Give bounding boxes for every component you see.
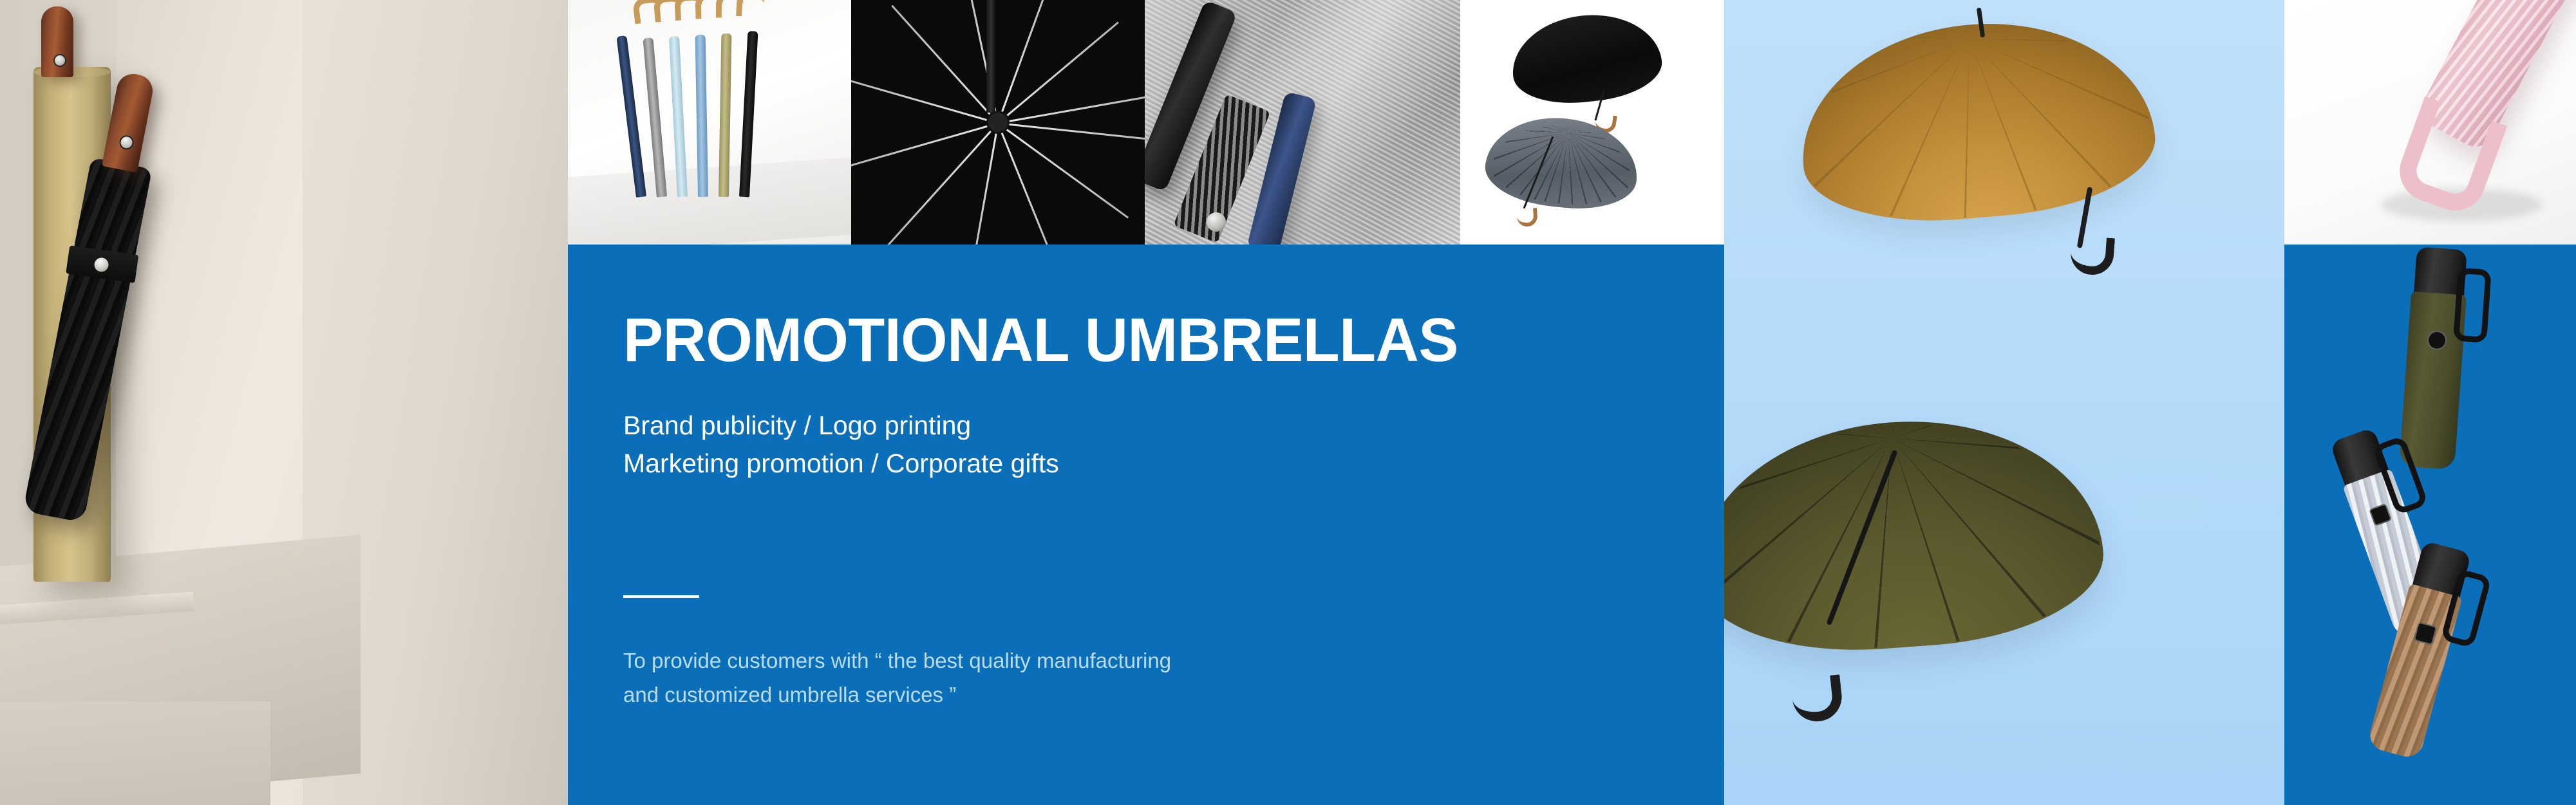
horizontal-divider [623,595,699,598]
light-blue-showcase-panel [1724,0,2284,805]
umbrella-olive [719,33,731,197]
black-open-canopy [1508,8,1666,109]
rib [885,122,999,245]
olive-canopy-ribs [1724,411,2106,660]
auto-open-button-icon [118,134,135,151]
body-line-2: and customized umbrella services ” [623,678,1171,712]
rib [969,123,999,245]
pink-umbrella-panel [2284,0,2576,245]
subtitle-line-2: Marketing promotion / Corporate gifts [623,445,1059,483]
subtitle-block: Brand publicity / Logo printing Marketin… [623,407,1059,483]
folded-umbrellas-blue-panel [2284,245,2576,805]
page-title: PROMOTIONAL UMBRELLAS [623,310,1458,371]
thumbnail-two-open-umbrellas [1460,0,1724,245]
thumbnail-six-umbrellas [568,0,851,245]
wood-hook-handle-icon [1516,208,1538,227]
subtitle-line-1: Brand publicity / Logo printing [623,407,1059,445]
thumb1-umbrella-group [630,13,791,225]
umbrella-grey [643,37,667,197]
body-text-block: To provide customers with “ the best qua… [623,643,1171,712]
umbrella-black [739,31,758,197]
snap-button-icon [1207,212,1226,232]
umbrella-pale-blue [669,36,688,197]
body-line-1: To provide customers with “ the best qua… [623,643,1171,678]
black-umbrella-wood-handle [102,71,156,172]
khaki-umbrella-wood-handle [41,6,73,77]
olive-folded-umbrella [2402,246,2467,475]
auto-open-button-icon [53,54,66,67]
umbrella-blue [695,35,708,197]
thumbnail-umbrella-ribs [851,0,1145,245]
left-lifestyle-photo [0,0,568,805]
crook-handle-icon [736,0,765,17]
tan-umbrella-hook-handle-icon [2069,236,2115,277]
rib [997,0,1055,124]
floor-lower-surface [0,701,270,805]
tan-canopy-seams [1795,12,2158,231]
rib [998,94,1145,124]
blue-text-panel: PROMOTIONAL UMBRELLAS Brand publicity / … [568,245,1724,805]
rib [891,5,999,124]
rib [997,123,1060,245]
wrist-strap-loop [2453,268,2492,343]
promotional-umbrellas-banner: PROMOTIONAL UMBRELLAS Brand publicity / … [0,0,2576,805]
center-shaft [986,0,995,113]
rib-hub [988,113,1008,132]
thumbnail-folded-on-fabric [1145,0,1460,245]
olive-umbrella-hook-handle-icon [1791,674,1845,724]
